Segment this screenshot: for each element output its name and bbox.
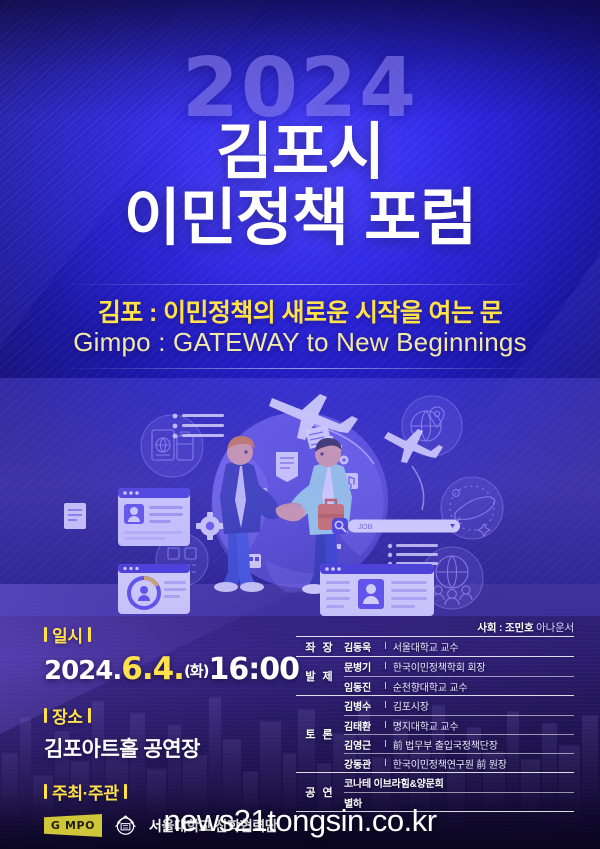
gimpo-logo-text: G MPO — [51, 819, 95, 832]
datetime-month-day: 6.4. — [121, 651, 184, 687]
info-label-hosts: 주최·주관 — [44, 779, 294, 804]
label-bar-left — [44, 708, 47, 723]
table-row: 토 론 김병수 Ⅰ 김포시장 김태환 Ⅰ 명지대학교 교수 김영근 Ⅰ 前 법무… — [296, 695, 574, 772]
info-label-datetime: 일시 — [44, 622, 294, 647]
speaker-affiliation: 한국이민정책연구원 前 원장 — [393, 756, 507, 771]
poster-root: 2024 김포시 이민정책 포럼 김포 : 이민정책의 새로운 시작을 여는 문… — [0, 0, 600, 849]
separator: Ⅰ — [384, 720, 387, 731]
speaker-affiliation: 순천향대학교 교수 — [393, 679, 468, 694]
table-row: 발 제 문병기 Ⅰ 한국이민정책학회 회장 임동진 Ⅰ 순천향대학교 교수 — [296, 656, 574, 695]
list-item: 김영근 Ⅰ 前 법무부 출입국정책단장 — [344, 734, 574, 753]
program-category: 토 론 — [296, 696, 344, 772]
speaker-name: 문병기 — [344, 659, 378, 674]
speaker-name: 강동관 — [344, 756, 378, 771]
separator: Ⅰ — [384, 700, 387, 711]
separator: Ⅰ — [384, 758, 387, 769]
label-bar-left — [44, 627, 47, 642]
separator: Ⅰ — [384, 681, 387, 692]
speaker-name: 김영근 — [344, 737, 378, 752]
speaker-name: 임동진 — [344, 679, 378, 694]
speaker-affiliation: 명지대학교 교수 — [393, 718, 459, 733]
list-item: 김병수 Ⅰ 김포시장 — [344, 696, 574, 715]
title-line-2: 이민정책 포럼 — [0, 186, 600, 252]
title-line-1: 김포시 — [0, 120, 600, 186]
mc-prefix: 사회 : — [477, 622, 505, 634]
separator: Ⅰ — [384, 641, 387, 652]
list-item: 문병기 Ⅰ 한국이민정책학회 회장 — [344, 657, 574, 676]
label-bar-right — [88, 627, 91, 642]
separator: Ⅰ — [384, 661, 387, 672]
event-place: 김포아트홀 공연장 — [44, 733, 294, 763]
program-category: 발 제 — [296, 657, 344, 695]
mc-name: 조민호 — [505, 622, 533, 634]
label-bar-right — [88, 708, 91, 723]
datetime-year: 2024. — [44, 656, 121, 686]
list-item: 임동진 Ⅰ 순천향대학교 교수 — [344, 676, 574, 695]
separator: Ⅰ — [384, 739, 387, 750]
speaker-affiliation: 서울대학교 교수 — [393, 639, 459, 654]
label-bar-right — [124, 784, 127, 799]
list-item: 김태환 Ⅰ 명지대학교 교수 — [344, 715, 574, 734]
event-datetime: 2024.6.4.(화)16:00 — [44, 651, 294, 687]
speaker-affiliation: 김포시장 — [393, 698, 429, 713]
mc-role: 아나운서 — [533, 622, 574, 634]
program-category: 좌 장 — [296, 637, 344, 656]
speaker-name: 김병수 — [344, 698, 378, 713]
info-label-place-text: 장소 — [52, 703, 83, 728]
list-item: 강동관 Ⅰ 한국이민정책연구원 前 원장 — [344, 753, 574, 772]
performer-name: 코나테 이브라힘&양문희 — [344, 775, 444, 790]
speaker-affiliation: 前 법무부 출입국정책단장 — [393, 737, 498, 752]
speaker-affiliation: 한국이민정책학회 회장 — [393, 659, 486, 674]
mc-line: 사회 : 조민호 아나운서 — [477, 620, 574, 635]
program-table: 좌 장 김동욱 Ⅰ 서울대학교 교수 발 제 문병기 Ⅰ 한국이민정책학회 회장… — [296, 636, 574, 812]
program-items: 문병기 Ⅰ 한국이민정책학회 회장 임동진 Ⅰ 순천향대학교 교수 — [344, 657, 574, 695]
subtitle-english: Gimpo : GATEWAY to New Beginnings — [0, 327, 600, 358]
list-item: 김동욱 Ⅰ 서울대학교 교수 — [344, 637, 574, 656]
info-label-place: 장소 — [44, 703, 294, 728]
list-item: 코나테 이브라힘&양문희 — [344, 773, 574, 792]
datetime-time: 16:00 — [208, 652, 299, 687]
poster-title: 김포시 이민정책 포럼 — [0, 120, 600, 253]
hero-illustration: JOB — [0, 378, 600, 616]
speaker-name: 김동욱 — [344, 639, 378, 654]
program-items: 김병수 Ⅰ 김포시장 김태환 Ⅰ 명지대학교 교수 김영근 Ⅰ 前 법무부 출입… — [344, 696, 574, 772]
speaker-name: 김태환 — [344, 718, 378, 733]
illustration-band — [0, 378, 600, 616]
subtitle-korean: 김포 : 이민정책의 새로운 시작을 여는 문 — [0, 293, 600, 329]
divider-bottom — [62, 368, 538, 369]
datetime-day-of-week: (화) — [184, 662, 209, 680]
info-label-datetime-text: 일시 — [52, 622, 83, 647]
info-label-hosts-text: 주최·주관 — [52, 779, 119, 804]
label-bar-left — [44, 784, 47, 799]
divider-top — [62, 284, 538, 285]
program-items: 김동욱 Ⅰ 서울대학교 교수 — [344, 637, 574, 656]
table-row: 좌 장 김동욱 Ⅰ 서울대학교 교수 — [296, 637, 574, 656]
